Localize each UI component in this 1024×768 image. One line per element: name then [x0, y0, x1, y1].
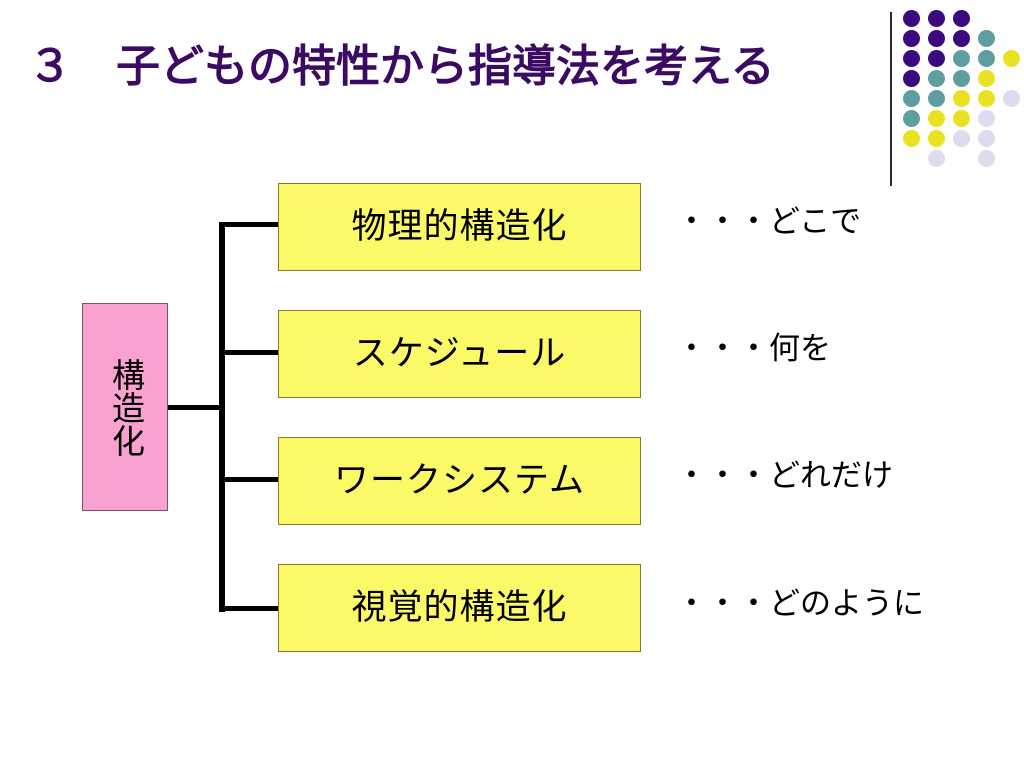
connector-branch-1	[222, 350, 280, 355]
connector-branch-0	[222, 222, 280, 227]
node-label-2: ワークシステム	[334, 464, 585, 499]
connector-trunk	[219, 222, 225, 612]
node-box-2: ワークシステム	[278, 437, 641, 525]
slide-canvas: ３ 子どもの特性から指導法を考える 構造化 物理的構造化 スケジュール ワークシ…	[0, 0, 1024, 768]
node-label-3: 視覚的構造化	[351, 591, 567, 626]
root-node-label: 構造化	[106, 358, 145, 457]
node-annotation-1: ・・・何を	[676, 334, 831, 365]
node-label-1: スケジュール	[353, 337, 567, 372]
node-box-3: 視覚的構造化	[278, 564, 641, 652]
node-annotation-2: ・・・どれだけ	[676, 461, 893, 492]
connector-branch-3	[222, 606, 280, 611]
node-box-0: 物理的構造化	[278, 183, 641, 271]
node-box-1: スケジュール	[278, 310, 641, 398]
connector-branch-2	[222, 477, 280, 482]
node-annotation-0: ・・・どこで	[676, 207, 861, 238]
node-label-0: 物理的構造化	[351, 210, 567, 245]
node-annotation-3: ・・・どのように	[676, 589, 924, 620]
connector-root-stub	[166, 405, 224, 410]
root-node-box: 構造化	[82, 303, 168, 511]
